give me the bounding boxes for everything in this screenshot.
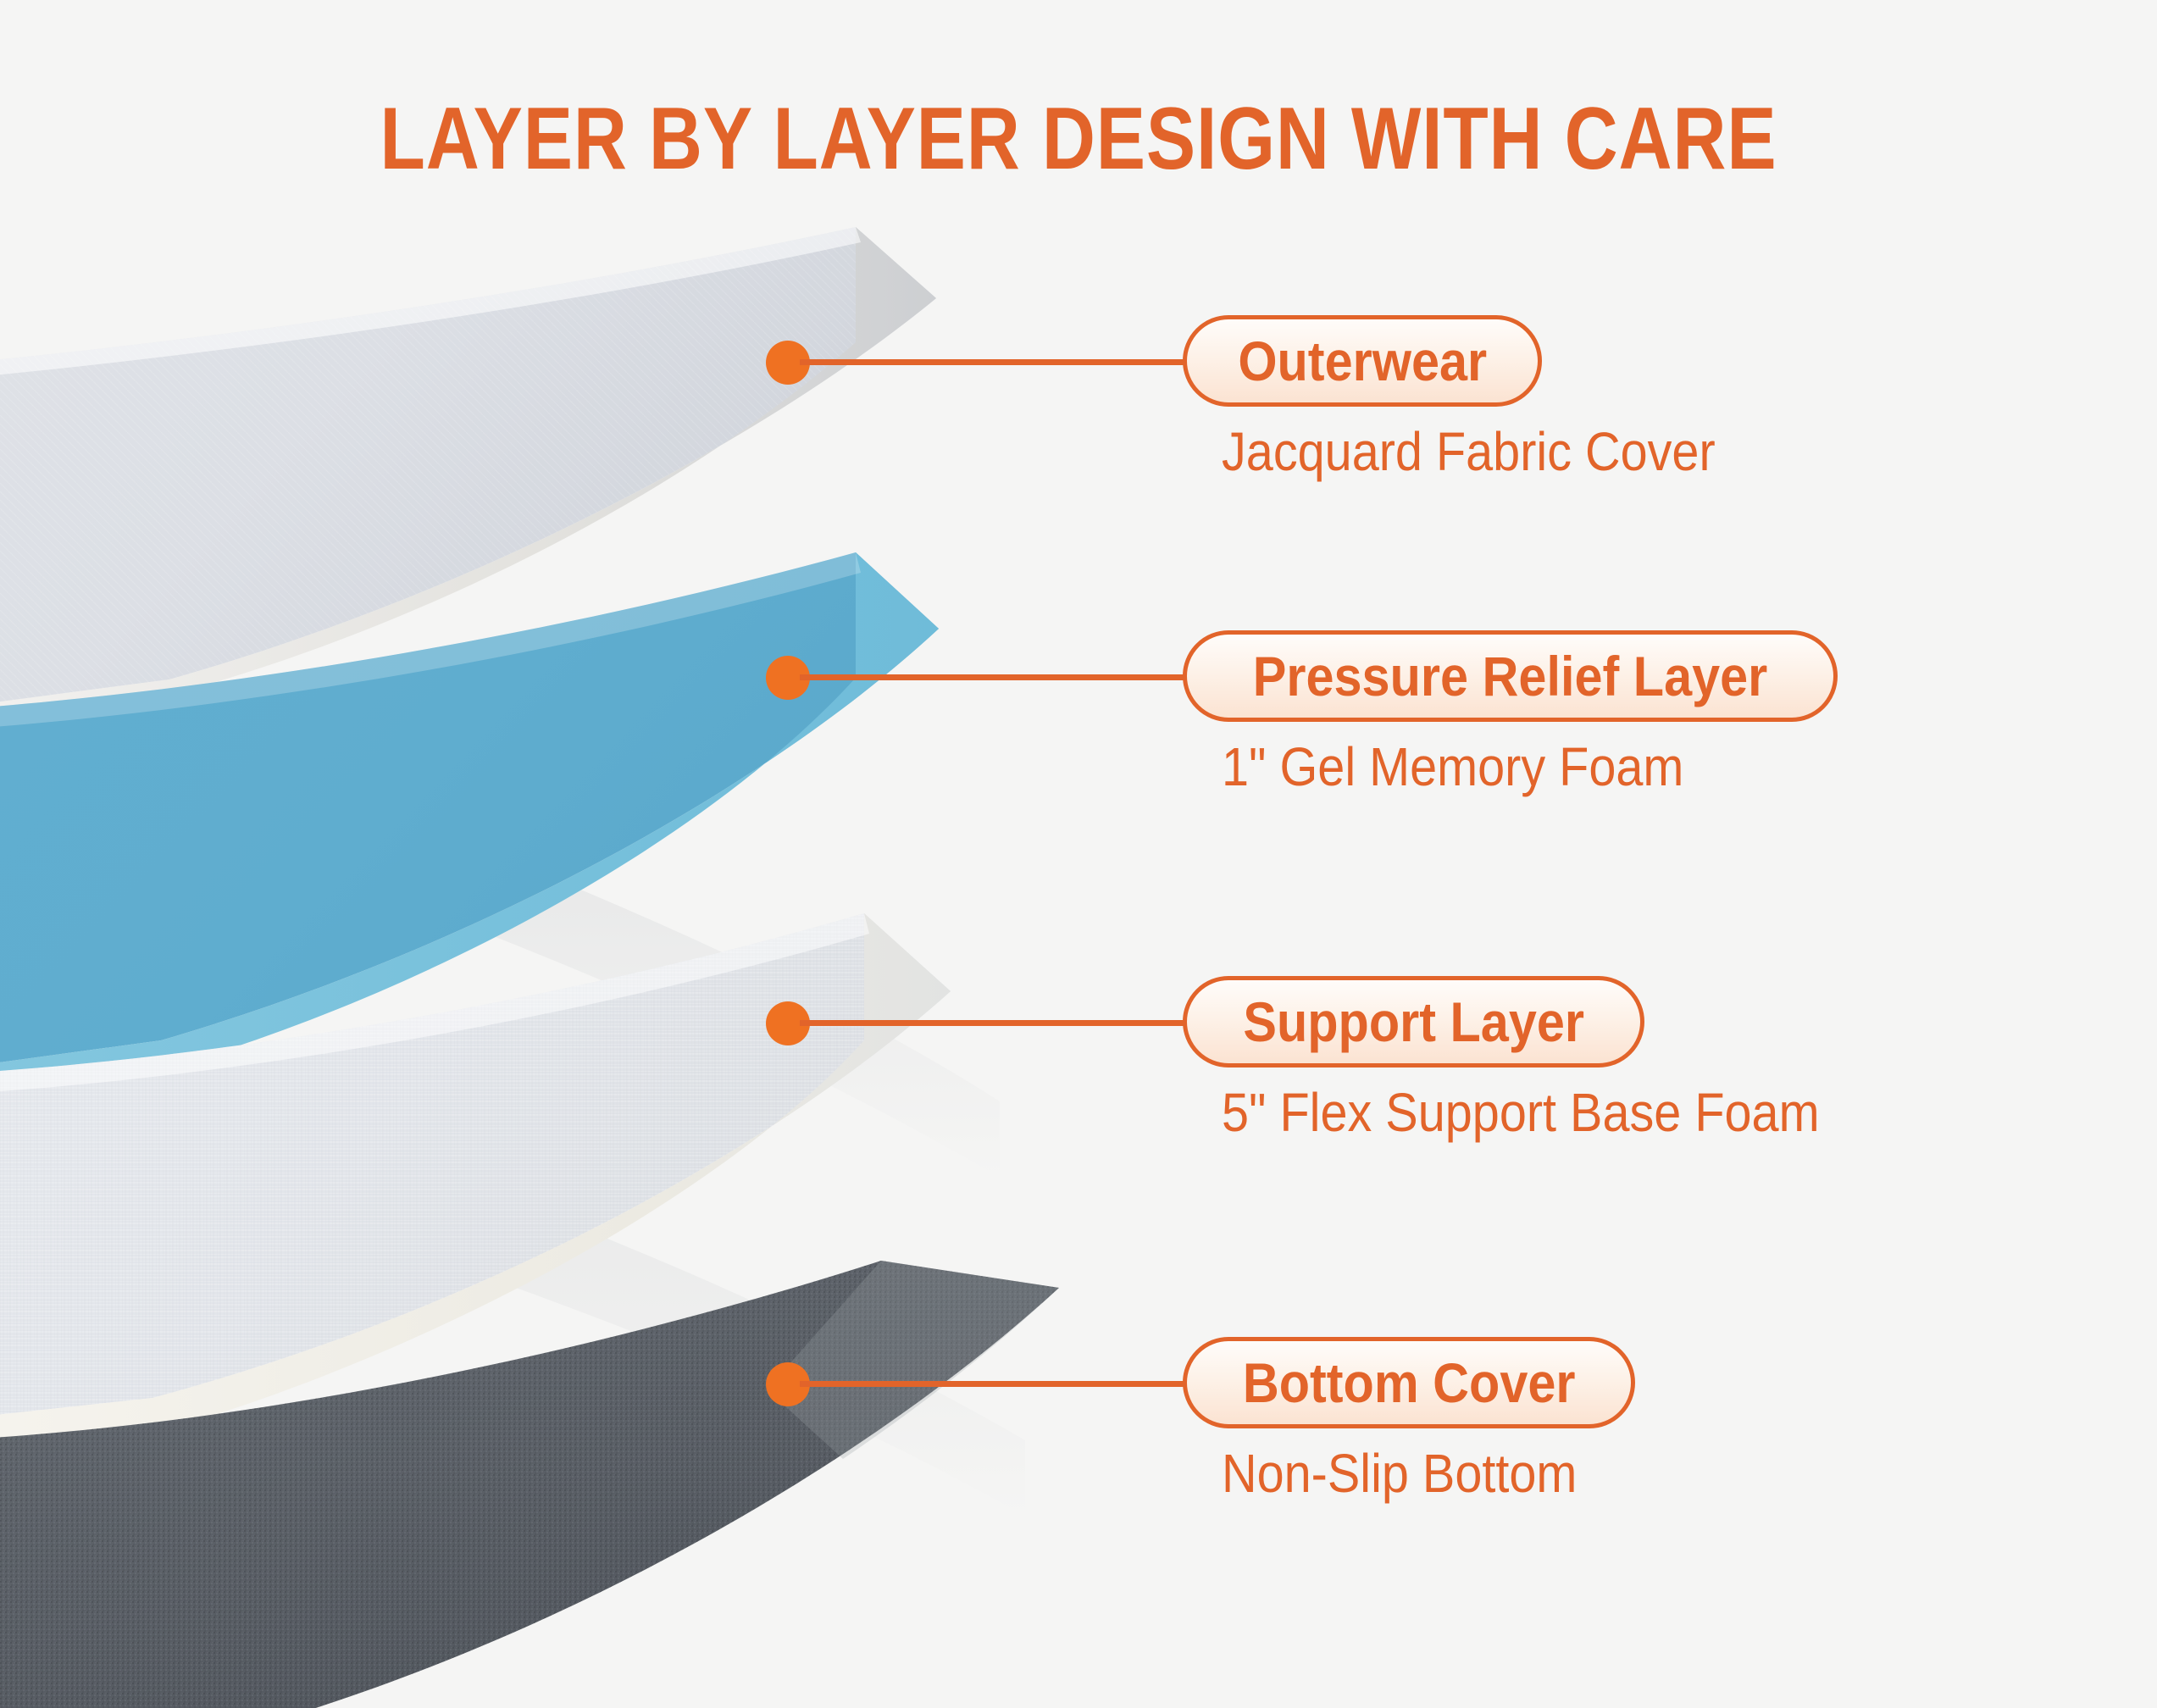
mattress-layer-illustration xyxy=(0,0,2157,1708)
layer-description-support-layer: 5" Flex Support Base Foam xyxy=(1222,1083,1820,1142)
layer-pill-label-outerwear: Outerwear xyxy=(1238,333,1487,389)
layer-pill-pressure-relief-layer[interactable]: Pressure Relief Layer xyxy=(1183,630,1838,722)
page-title: LAYER BY LAYER DESIGN WITH CARE xyxy=(173,91,1985,186)
layer-pill-label-pressure-relief-layer: Pressure Relief Layer xyxy=(1253,648,1768,704)
layer-pill-label-bottom-cover: Bottom Cover xyxy=(1243,1355,1576,1411)
layer-pill-outerwear[interactable]: Outerwear xyxy=(1183,315,1542,407)
layer-pill-label-support-layer: Support Layer xyxy=(1243,994,1584,1050)
leader-line-outerwear xyxy=(800,359,1189,365)
infographic-canvas: LAYER BY LAYER DESIGN WITH CARE Outerwea… xyxy=(0,0,2157,1708)
layer-pill-bottom-cover[interactable]: Bottom Cover xyxy=(1183,1337,1635,1428)
leader-line-pressure-relief-layer xyxy=(800,674,1189,680)
layer-pill-support-layer[interactable]: Support Layer xyxy=(1183,976,1644,1067)
layer-description-pressure-relief-layer: 1" Gel Memory Foam xyxy=(1222,737,1683,796)
leader-line-support-layer xyxy=(800,1020,1189,1026)
leader-line-bottom-cover xyxy=(800,1381,1189,1387)
layer-description-bottom-cover: Non-Slip Bottom xyxy=(1222,1444,1577,1503)
layer-description-outerwear: Jacquard Fabric Cover xyxy=(1222,422,1716,481)
